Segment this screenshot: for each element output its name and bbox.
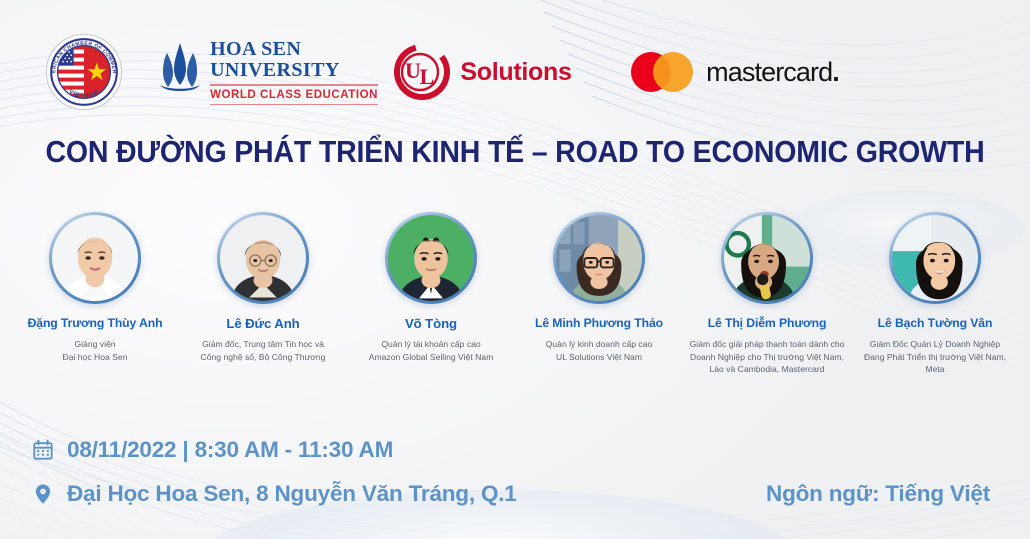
speaker-role: Giảng viên Đại học Hoa Sen	[15, 338, 175, 363]
event-title: CON ĐƯỜNG PHÁT TRIỂN KINH TẾ – ROAD TO E…	[41, 134, 989, 170]
avatar	[889, 212, 981, 304]
hoasen-rule-bottom	[210, 104, 378, 106]
speaker-photo	[892, 215, 978, 301]
speaker-role-line: Doanh Nghiệp cho Thị trường Việt Nam,	[687, 351, 847, 364]
speaker-role-line: Công nghệ số, Bộ Công Thương	[183, 351, 343, 364]
logo-amcham-slot: AMERICAN CHAMBER OF COMMERCE VIETNAM	[0, 32, 168, 112]
speaker-card: Lê Minh Phương Thảo Quản lý kinh doanh c…	[515, 212, 683, 363]
avatar	[553, 212, 645, 304]
speaker-photo	[52, 215, 138, 301]
speaker-role-line: Amazon Global Selling Việt Nam	[351, 351, 511, 364]
logo-hoasen-slot: HOA SEN UNIVERSITY WORLD CLASS EDUCATION	[168, 39, 368, 105]
speaker-role-line: Quản lý tài khoản cấp cao	[351, 338, 511, 351]
ul-circle-mark: U L	[394, 44, 450, 100]
speaker-role: Quản lý kinh doanh cấp cao UL Solutions …	[519, 338, 679, 363]
event-datetime-row: 08/11/2022 | 8:30 AM - 11:30 AM	[32, 437, 393, 463]
speaker-card: Đặng Trương Thùy Anh Giảng viên Đại học …	[11, 212, 179, 363]
speaker-card: Lê Thị Diễm Phương Giám đốc giải pháp th…	[683, 212, 851, 376]
mastercard-yellow-circle	[653, 52, 693, 92]
speaker-name: Lê Bạch Tường Vân	[878, 316, 993, 331]
logo-ul-slot: U L Solutions	[368, 44, 598, 100]
event-location: Đại Học Hoa Sen, 8 Nguyễn Văn Tráng, Q.1	[67, 481, 517, 507]
svg-text:L: L	[420, 64, 435, 89]
speaker-role-line: Lào và Cambodia, Mastercard	[687, 363, 847, 376]
mastercard-circles-mark	[631, 52, 693, 92]
event-footer: 08/11/2022 | 8:30 AM - 11:30 AM Đại Học …	[0, 419, 1030, 539]
sponsor-logo-row: AMERICAN CHAMBER OF COMMERCE VIETNAM	[0, 22, 1030, 122]
speaker-card: Võ Tòng Quản lý tài khoản cấp cao Amazon…	[347, 212, 515, 363]
ul-solutions-wordmark: Solutions	[460, 58, 571, 87]
speaker-role-line: UL Solutions Việt Nam	[519, 351, 679, 364]
speaker-name: Lê Đức Anh	[226, 316, 299, 331]
hoasen-line2: UNIVERSITY	[210, 60, 378, 81]
logo-mastercard-slot: mastercard.	[610, 52, 860, 92]
event-datetime: 08/11/2022 | 8:30 AM - 11:30 AM	[67, 437, 393, 463]
avatar	[721, 212, 813, 304]
speaker-name: Võ Tòng	[405, 316, 457, 331]
event-location-row: Đại Học Hoa Sen, 8 Nguyễn Văn Tráng, Q.1	[32, 481, 517, 507]
hoa-sen-lotus-mark	[158, 41, 202, 91]
hoasen-tagline: WORLD CLASS EDUCATION	[210, 88, 378, 102]
mastercard-word-dot: .	[832, 57, 839, 87]
speaker-role: Giám đốc giải pháp thanh toán dành cho D…	[687, 338, 847, 376]
speaker-photo	[556, 215, 642, 301]
speaker-role-line: Giảng viên	[15, 338, 175, 351]
speaker-list: Đặng Trương Thùy Anh Giảng viên Đại học …	[0, 212, 1030, 402]
hoa-sen-university-logo: HOA SEN UNIVERSITY WORLD CLASS EDUCATION	[158, 39, 378, 105]
hoasen-line1: HOA SEN	[210, 39, 378, 60]
speaker-photo	[388, 215, 474, 301]
location-pin-icon	[32, 482, 54, 506]
speaker-role-line: Giám đốc giải pháp thanh toán dành cho	[687, 338, 847, 351]
speaker-role-line: Đang Phát Triển thị trường Việt Nam,	[855, 351, 1015, 364]
speaker-card: Lê Đức Anh Giám đốc, Trung tâm Tin học v…	[179, 212, 347, 363]
event-language: Ngôn ngữ: Tiếng Việt	[766, 481, 990, 507]
mastercard-logo: mastercard.	[631, 52, 839, 92]
speaker-role-line: Quản lý kinh doanh cấp cao	[519, 338, 679, 351]
speaker-name: Lê Minh Phương Thảo	[535, 316, 663, 331]
speaker-photo	[220, 215, 306, 301]
speaker-role-line: Giám đốc, Trung tâm Tin học và	[183, 338, 343, 351]
hoasen-rule-top	[210, 84, 378, 86]
speaker-role: Quản lý tài khoản cấp cao Amazon Global …	[351, 338, 511, 363]
speaker-role: Giám đốc, Trung tâm Tin học và Công nghệ…	[183, 338, 343, 363]
speaker-photo	[724, 215, 810, 301]
svg-text:U: U	[405, 58, 421, 83]
mastercard-word-text: mastercard	[706, 57, 832, 87]
speaker-role-line: Meta	[855, 363, 1015, 376]
mastercard-wordmark: mastercard.	[706, 57, 839, 88]
ul-solutions-logo: U L Solutions	[394, 44, 571, 100]
speaker-role: Giám Đốc Quản Lý Doanh Nghiệp Đang Phát …	[855, 338, 1015, 376]
speaker-name: Lê Thị Diễm Phương	[708, 316, 827, 331]
calendar-icon	[32, 438, 54, 462]
event-banner: AMERICAN CHAMBER OF COMMERCE VIETNAM	[0, 0, 1030, 539]
speaker-role-line: Giám Đốc Quản Lý Doanh Nghiệp	[855, 338, 1015, 351]
avatar	[385, 212, 477, 304]
avatar	[49, 212, 141, 304]
speaker-card: Lê Bạch Tường Vân Giám Đốc Quản Lý Doanh…	[851, 212, 1019, 376]
avatar	[217, 212, 309, 304]
amcham-vietnam-logo: AMERICAN CHAMBER OF COMMERCE VIETNAM	[44, 32, 124, 112]
speaker-role-line: Đại học Hoa Sen	[15, 351, 175, 364]
speaker-name: Đặng Trương Thùy Anh	[28, 316, 163, 331]
